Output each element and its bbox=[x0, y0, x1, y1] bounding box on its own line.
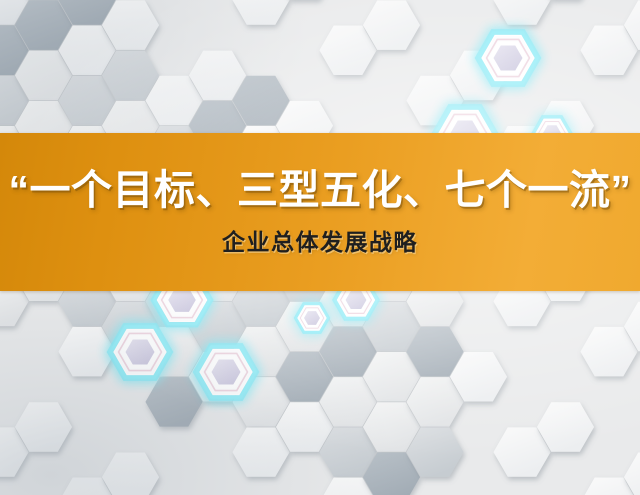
page-title: “一个目标、三型五化、七个一流” bbox=[9, 170, 632, 211]
glowing-hexagon bbox=[478, 32, 538, 84]
presentation-slide: “一个目标、三型五化、七个一流” 企业总体发展战略 bbox=[0, 0, 640, 495]
glowing-hexagon bbox=[295, 304, 328, 333]
page-subtitle: 企业总体发展战略 bbox=[222, 231, 418, 254]
glowing-hexagon bbox=[110, 326, 170, 378]
title-banner: “一个目标、三型五化、七个一流” 企业总体发展战略 bbox=[0, 133, 640, 291]
glowing-hexagon bbox=[196, 346, 256, 398]
